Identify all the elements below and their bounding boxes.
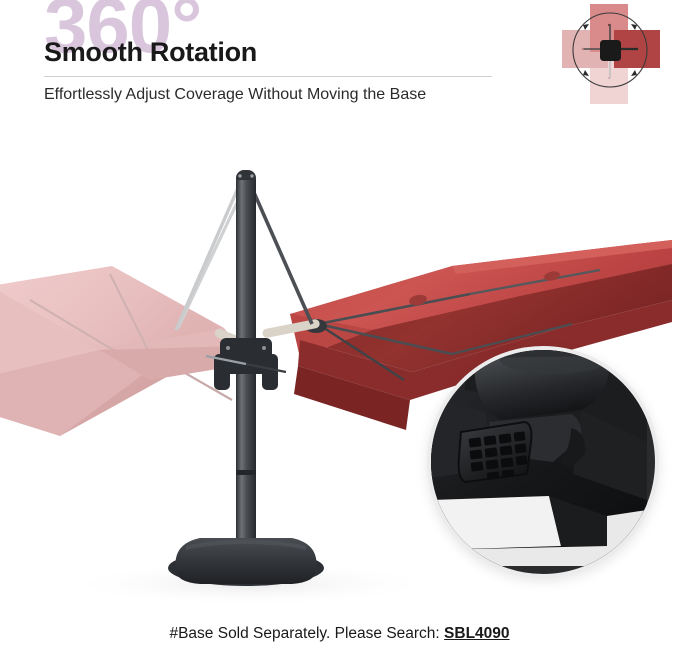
orbit-arrow-se-icon — [631, 70, 637, 76]
collar-bolt-2 — [262, 346, 266, 350]
canopy-dot-west — [582, 48, 584, 50]
main-pole — [236, 180, 256, 572]
foot-pedal-plate[interactable] — [459, 422, 532, 482]
page-subtitle: Effortlessly Adjust Coverage Without Mov… — [44, 86, 426, 104]
foot-pedal-inset — [427, 346, 659, 578]
sku-code: SBL4090 — [444, 625, 509, 642]
collar-bolt-1 — [226, 346, 230, 350]
product-feature-image: 360° Smooth Rotation Effortlessly Adjust… — [0, 0, 679, 652]
support-strut-right — [252, 188, 312, 324]
page-title: Smooth Rotation — [44, 39, 257, 66]
orbit-arrow-sw-icon — [583, 70, 589, 76]
footnote: #Base Sold Separately. Please Search: SB… — [0, 625, 679, 643]
pole-joint-lower — [236, 470, 256, 475]
orbit-arrow-nw-icon — [583, 24, 589, 30]
pole-head-bolt-right — [250, 174, 253, 177]
support-strut-left — [176, 188, 238, 330]
collar-tab-right — [262, 354, 278, 390]
rotation-foot-pedal-closeup — [431, 350, 647, 566]
rotation-diagram — [552, 2, 672, 106]
footnote-prefix: #Base Sold Separately. Please Search: — [169, 625, 444, 642]
title-divider — [44, 76, 492, 77]
orbit-arrow-ne-icon — [631, 24, 637, 30]
360-rotation-diagram-icon — [552, 2, 672, 106]
ghost-umbrella — [0, 190, 250, 436]
base-square-icon — [600, 40, 621, 61]
pole-head-bolt-left — [238, 174, 241, 177]
